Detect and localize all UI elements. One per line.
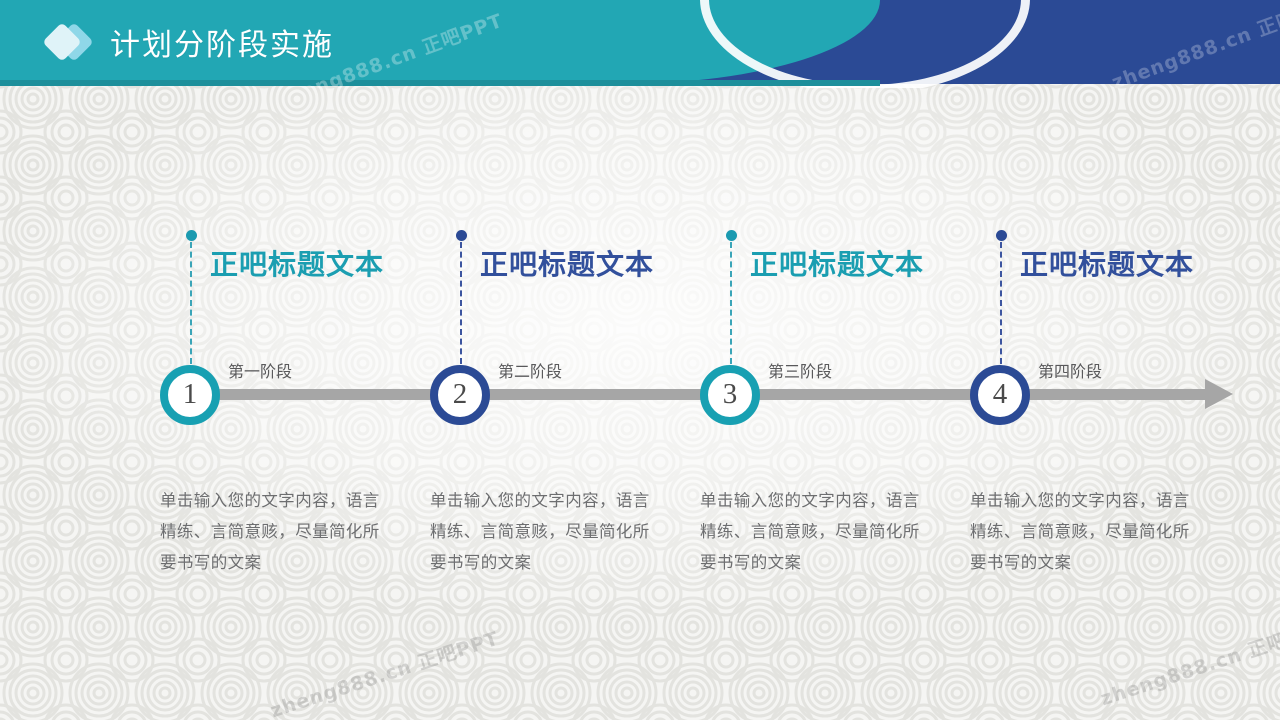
stage-body-text-3: 单击输入您的文字内容，语言精练、言简意赅，尽量简化所要书写的文案	[700, 486, 922, 579]
stage-body-text-4: 单击输入您的文字内容，语言精练、言简意赅，尽量简化所要书写的文案	[970, 486, 1192, 579]
stage-node-4[interactable]: 4	[970, 365, 1030, 425]
stage-heading-3: 正吧标题文本	[750, 243, 924, 283]
stage-body-text-2: 单击输入您的文字内容，语言精练、言简意赅，尽量简化所要书写的文案	[430, 486, 652, 579]
timeline-stage-3[interactable]: 正吧标题文本 3 第三阶段 单击输入您的文字内容，语言精练、言简意赅，尽量简化所…	[690, 0, 990, 720]
stage-node-2[interactable]: 2	[430, 365, 490, 425]
timeline-stage-1[interactable]: 正吧标题文本 1 第一阶段 单击输入您的文字内容，语言精练、言简意赅，尽量简化所…	[150, 0, 450, 720]
stage-phase-label-1: 第一阶段	[228, 358, 292, 382]
stage-number-1: 1	[183, 380, 198, 409]
connector-dot-icon	[996, 230, 1007, 241]
connector-dot-icon	[456, 230, 467, 241]
stage-node-3[interactable]: 3	[700, 365, 760, 425]
connector-dot-icon	[726, 230, 737, 241]
stage-phase-label-3: 第三阶段	[768, 358, 832, 382]
slide-canvas: 计划分阶段实施 zheng888.cn 正吧PPT zheng888.cn 正吧…	[0, 0, 1280, 720]
connector-dashed-line	[460, 242, 462, 364]
stage-node-1[interactable]: 1	[160, 365, 220, 425]
stage-body-text-1: 单击输入您的文字内容，语言精练、言简意赅，尽量简化所要书写的文案	[160, 486, 382, 579]
stage-connector-3	[730, 232, 732, 364]
stage-number-4: 4	[993, 380, 1008, 409]
stage-connector-2	[460, 232, 462, 364]
diamond-icon	[46, 22, 92, 62]
connector-dashed-line	[190, 242, 192, 364]
stage-phase-label-2: 第二阶段	[498, 358, 562, 382]
stage-connector-4	[1000, 232, 1002, 364]
stage-number-2: 2	[453, 380, 468, 409]
connector-dashed-line	[730, 242, 732, 364]
stage-phase-label-4: 第四阶段	[1038, 358, 1102, 382]
stage-heading-4: 正吧标题文本	[1020, 243, 1194, 283]
connector-dot-icon	[186, 230, 197, 241]
stage-heading-1: 正吧标题文本	[210, 243, 384, 283]
page-title: 计划分阶段实施	[110, 20, 334, 64]
timeline-stage-4[interactable]: 正吧标题文本 4 第四阶段 单击输入您的文字内容，语言精练、言简意赅，尽量简化所…	[960, 0, 1260, 720]
stage-number-3: 3	[723, 380, 738, 409]
stage-heading-2: 正吧标题文本	[480, 243, 654, 283]
stage-connector-1	[190, 232, 192, 364]
header-title-group: 计划分阶段实施	[46, 20, 334, 64]
connector-dashed-line	[1000, 242, 1002, 364]
timeline-stage-2[interactable]: 正吧标题文本 2 第二阶段 单击输入您的文字内容，语言精练、言简意赅，尽量简化所…	[420, 0, 720, 720]
